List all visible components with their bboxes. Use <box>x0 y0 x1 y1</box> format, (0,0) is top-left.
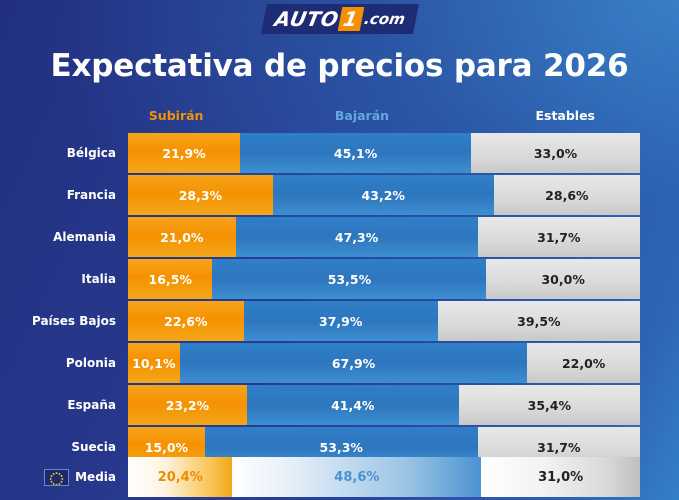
table-row: Italia16,5%53,5%30,0% <box>0 259 679 299</box>
legend-item-1: Subirán <box>149 108 204 123</box>
auto1-logo: AUTO 1 .com <box>264 4 416 34</box>
table-row: Alemania21,0%47,3%31,7% <box>0 217 679 257</box>
row-label: Francia <box>0 175 116 215</box>
row-label: Países Bajos <box>0 301 116 341</box>
segment-subiran: 22,6% <box>128 301 244 341</box>
table-row: Francia28,3%43,2%28,6% <box>0 175 679 215</box>
table-row: España23,2%41,4%35,4% <box>0 385 679 425</box>
segment-estables: 22,0% <box>527 343 640 383</box>
average-segment-bajaran: 48,6% <box>232 457 481 497</box>
segment-estables: 33,0% <box>471 133 640 173</box>
row-label: Italia <box>0 259 116 299</box>
row-bars: 10,1%67,9%22,0% <box>128 343 640 383</box>
chart-rows: Bélgica21,9%45,1%33,0%Francia28,3%43,2%2… <box>0 133 679 469</box>
segment-subiran: 28,3% <box>128 175 273 215</box>
chart-legend: SubiránBajaránEstables <box>128 108 640 126</box>
row-bars: 16,5%53,5%30,0% <box>128 259 640 299</box>
average-row-label-group: Media <box>0 457 116 497</box>
row-label: Polonia <box>0 343 116 383</box>
segment-bajaran: 67,9% <box>180 343 528 383</box>
row-bars: 28,3%43,2%28,6% <box>128 175 640 215</box>
average-row: Media 20,4%48,6%31,0% <box>0 457 679 497</box>
segment-estables: 30,0% <box>486 259 640 299</box>
row-bars: 22,6%37,9%39,5% <box>128 301 640 341</box>
logo-com-suffix: .com <box>363 10 407 28</box>
average-segment-estables: 31,0% <box>481 457 640 497</box>
page-title: Expectativa de precios para 2026 <box>0 48 679 84</box>
row-label: España <box>0 385 116 425</box>
segment-bajaran: 53,5% <box>212 259 486 299</box>
table-row: Países Bajos22,6%37,9%39,5% <box>0 301 679 341</box>
segment-subiran: 21,9% <box>128 133 240 173</box>
average-row-bars: 20,4%48,6%31,0% <box>128 457 640 497</box>
segment-estables: 28,6% <box>494 175 640 215</box>
row-label: Alemania <box>0 217 116 257</box>
row-bars: 21,0%47,3%31,7% <box>128 217 640 257</box>
legend-item-2: Bajarán <box>335 108 389 123</box>
segment-bajaran: 43,2% <box>273 175 494 215</box>
segment-subiran: 23,2% <box>128 385 247 425</box>
legend-item-3: Estables <box>535 108 595 123</box>
segment-bajaran: 41,4% <box>247 385 459 425</box>
segment-bajaran: 45,1% <box>240 133 471 173</box>
segment-bajaran: 37,9% <box>244 301 438 341</box>
row-bars: 23,2%41,4%35,4% <box>128 385 640 425</box>
segment-bajaran: 47,3% <box>236 217 478 257</box>
infographic-canvas: AUTO 1 .com Expectativa de precios para … <box>0 0 679 500</box>
logo-auto-word: AUTO <box>273 7 341 31</box>
logo-text: AUTO 1 .com <box>261 4 419 34</box>
segment-subiran: 21,0% <box>128 217 236 257</box>
segment-estables: 39,5% <box>438 301 640 341</box>
table-row: Polonia10,1%67,9%22,0% <box>0 343 679 383</box>
row-label: Bélgica <box>0 133 116 173</box>
row-bars: 21,9%45,1%33,0% <box>128 133 640 173</box>
average-row-label: Media <box>75 470 116 484</box>
logo-one-badge: 1 <box>337 7 365 31</box>
average-segment-subiran: 20,4% <box>128 457 232 497</box>
segment-estables: 31,7% <box>478 217 640 257</box>
eu-flag-icon <box>44 469 69 486</box>
table-row: Bélgica21,9%45,1%33,0% <box>0 133 679 173</box>
segment-subiran: 16,5% <box>128 259 212 299</box>
segment-estables: 35,4% <box>459 385 640 425</box>
segment-subiran: 10,1% <box>128 343 180 383</box>
